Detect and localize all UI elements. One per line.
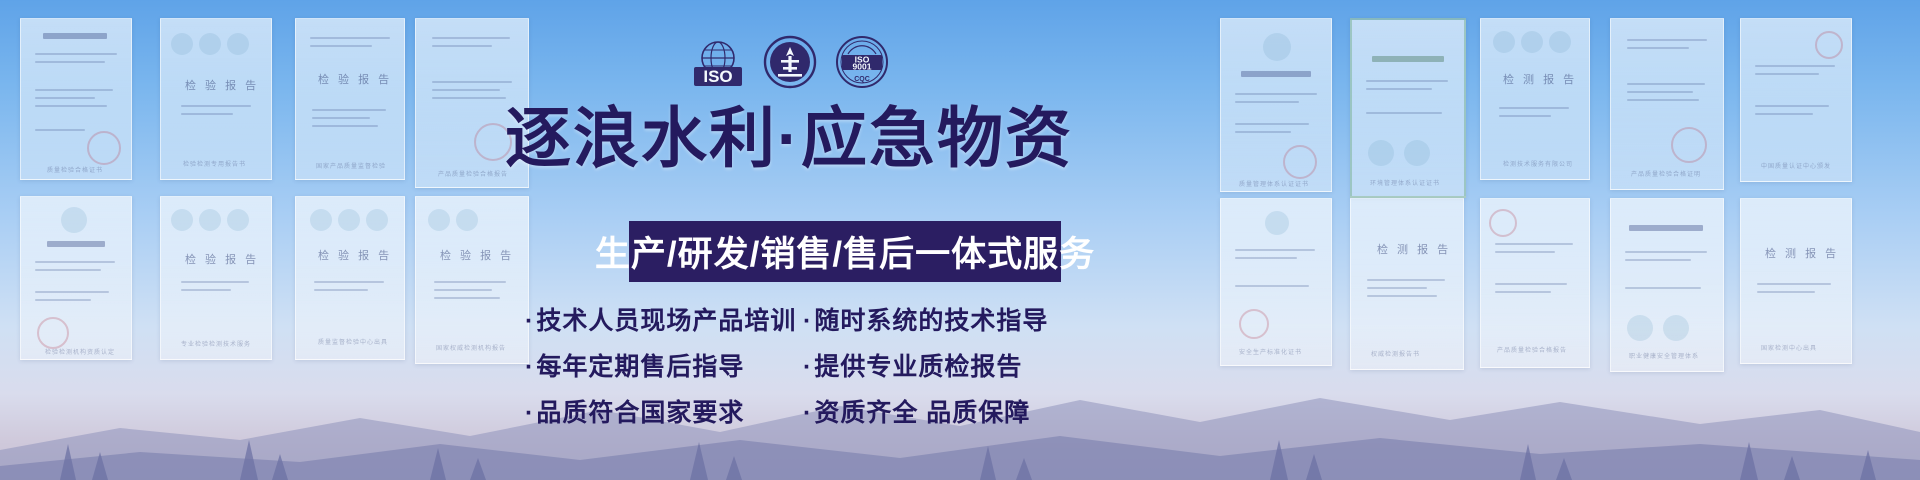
bullet-item: ·资质齐全 品质保障 xyxy=(803,393,1065,429)
bullet-marker-icon: · xyxy=(525,307,534,335)
svg-text:ISO: ISO xyxy=(703,67,732,86)
certification-logo-row: ISO ISO 9001 CQC xyxy=(690,32,890,92)
bullet-row: ·品质符合国家要求 ·资质齐全 品质保障 xyxy=(525,388,1065,434)
certificate-card: 中国质量认证中心颁发 xyxy=(1740,18,1852,182)
bullet-row: ·每年定期售后指导 ·提供专业质检报告 xyxy=(525,342,1065,388)
bullet-label: 资质齐全 品质保障 xyxy=(814,399,1030,427)
certificate-card: 安全生产标准化证书 xyxy=(1220,198,1332,366)
bullet-label: 每年定期售后指导 xyxy=(536,353,744,381)
certificate-card: 检 测 报 告 检测技术服务有限公司 xyxy=(1480,18,1590,180)
bullet-label: 品质符合国家要求 xyxy=(536,399,744,427)
subtitle-text: 生产/研发/销售/售后一体式服务 xyxy=(595,226,1095,277)
bullet-item: ·提供专业质检报告 xyxy=(803,347,1065,383)
bullet-label: 提供专业质检报告 xyxy=(814,353,1022,381)
bullet-marker-icon: · xyxy=(525,399,534,427)
iso-globe-seal-icon: ISO xyxy=(690,34,746,90)
bullet-label: 随时系统的技术指导 xyxy=(814,307,1048,335)
subtitle-bar: 生产/研发/销售/售后一体式服务 xyxy=(629,221,1061,282)
certificate-card: 检验检测机构资质认定 xyxy=(20,196,132,360)
certificate-card: 检 验 报 告 检验检测专用报告书 xyxy=(160,18,272,180)
bullet-marker-icon: · xyxy=(525,353,534,381)
certificate-card: 职业健康安全管理体系 xyxy=(1610,198,1724,372)
promotional-banner: 质量检验合格证书 检 验 报 告 检验检测专用报告书 检 验 报 告 国家产品质… xyxy=(0,0,1920,480)
certificate-card: 产品质量检验合格报告 xyxy=(1480,198,1590,368)
certificate-card: 产品质量检验合格证明 xyxy=(1610,18,1724,190)
svg-text:9001: 9001 xyxy=(853,62,872,72)
bullet-label: 技术人员现场产品培训 xyxy=(536,307,796,335)
certificate-wall-right: 质量管理体系认证证书 环境管理体系认证证书 检 测 报 告 检测技术服务有限公司 xyxy=(1040,0,1920,480)
feature-bullet-list: ·技术人员现场产品培训 ·随时系统的技术指导 ·每年定期售后指导 ·提供专业质检… xyxy=(525,296,1065,434)
certificate-card: 质量检验合格证书 xyxy=(20,18,132,180)
certificate-card: 质量管理体系认证证书 xyxy=(1220,18,1332,192)
bullet-row: ·技术人员现场产品培训 ·随时系统的技术指导 xyxy=(525,296,1065,342)
bullet-marker-icon: · xyxy=(803,399,812,427)
certificate-card: 检 测 报 告 国家检测中心出具 xyxy=(1740,198,1852,364)
page-title: 逐浪水利·应急物资 xyxy=(505,98,1075,178)
bullet-marker-icon: · xyxy=(803,307,812,335)
svg-text:CQC: CQC xyxy=(854,76,870,83)
certificate-card: 检 验 报 告 质量监督检验中心出具 xyxy=(295,196,405,360)
bullet-item: ·每年定期售后指导 xyxy=(525,347,803,383)
quality-inspection-seal-icon xyxy=(762,34,818,90)
bullet-item: ·随时系统的技术指导 xyxy=(803,301,1065,337)
iso-9001-cqc-seal-icon: ISO 9001 CQC xyxy=(834,34,890,90)
certificate-card: 检 验 报 告 专业检验检测技术服务 xyxy=(160,196,272,360)
certificate-card: 检 验 报 告 国家权威检测机构报告 xyxy=(415,196,529,364)
bullet-item: ·技术人员现场产品培训 xyxy=(525,301,803,337)
certificate-card: 检 测 报 告 权威检测报告书 xyxy=(1350,198,1464,370)
certificate-card: 检 验 报 告 国家产品质量监督检验 xyxy=(295,18,405,180)
certificate-wall-left: 质量检验合格证书 检 验 报 告 检验检测专用报告书 检 验 报 告 国家产品质… xyxy=(0,0,500,480)
bullet-item: ·品质符合国家要求 xyxy=(525,393,803,429)
certificate-card: 环境管理体系认证证书 xyxy=(1350,18,1466,198)
bullet-marker-icon: · xyxy=(803,353,812,381)
